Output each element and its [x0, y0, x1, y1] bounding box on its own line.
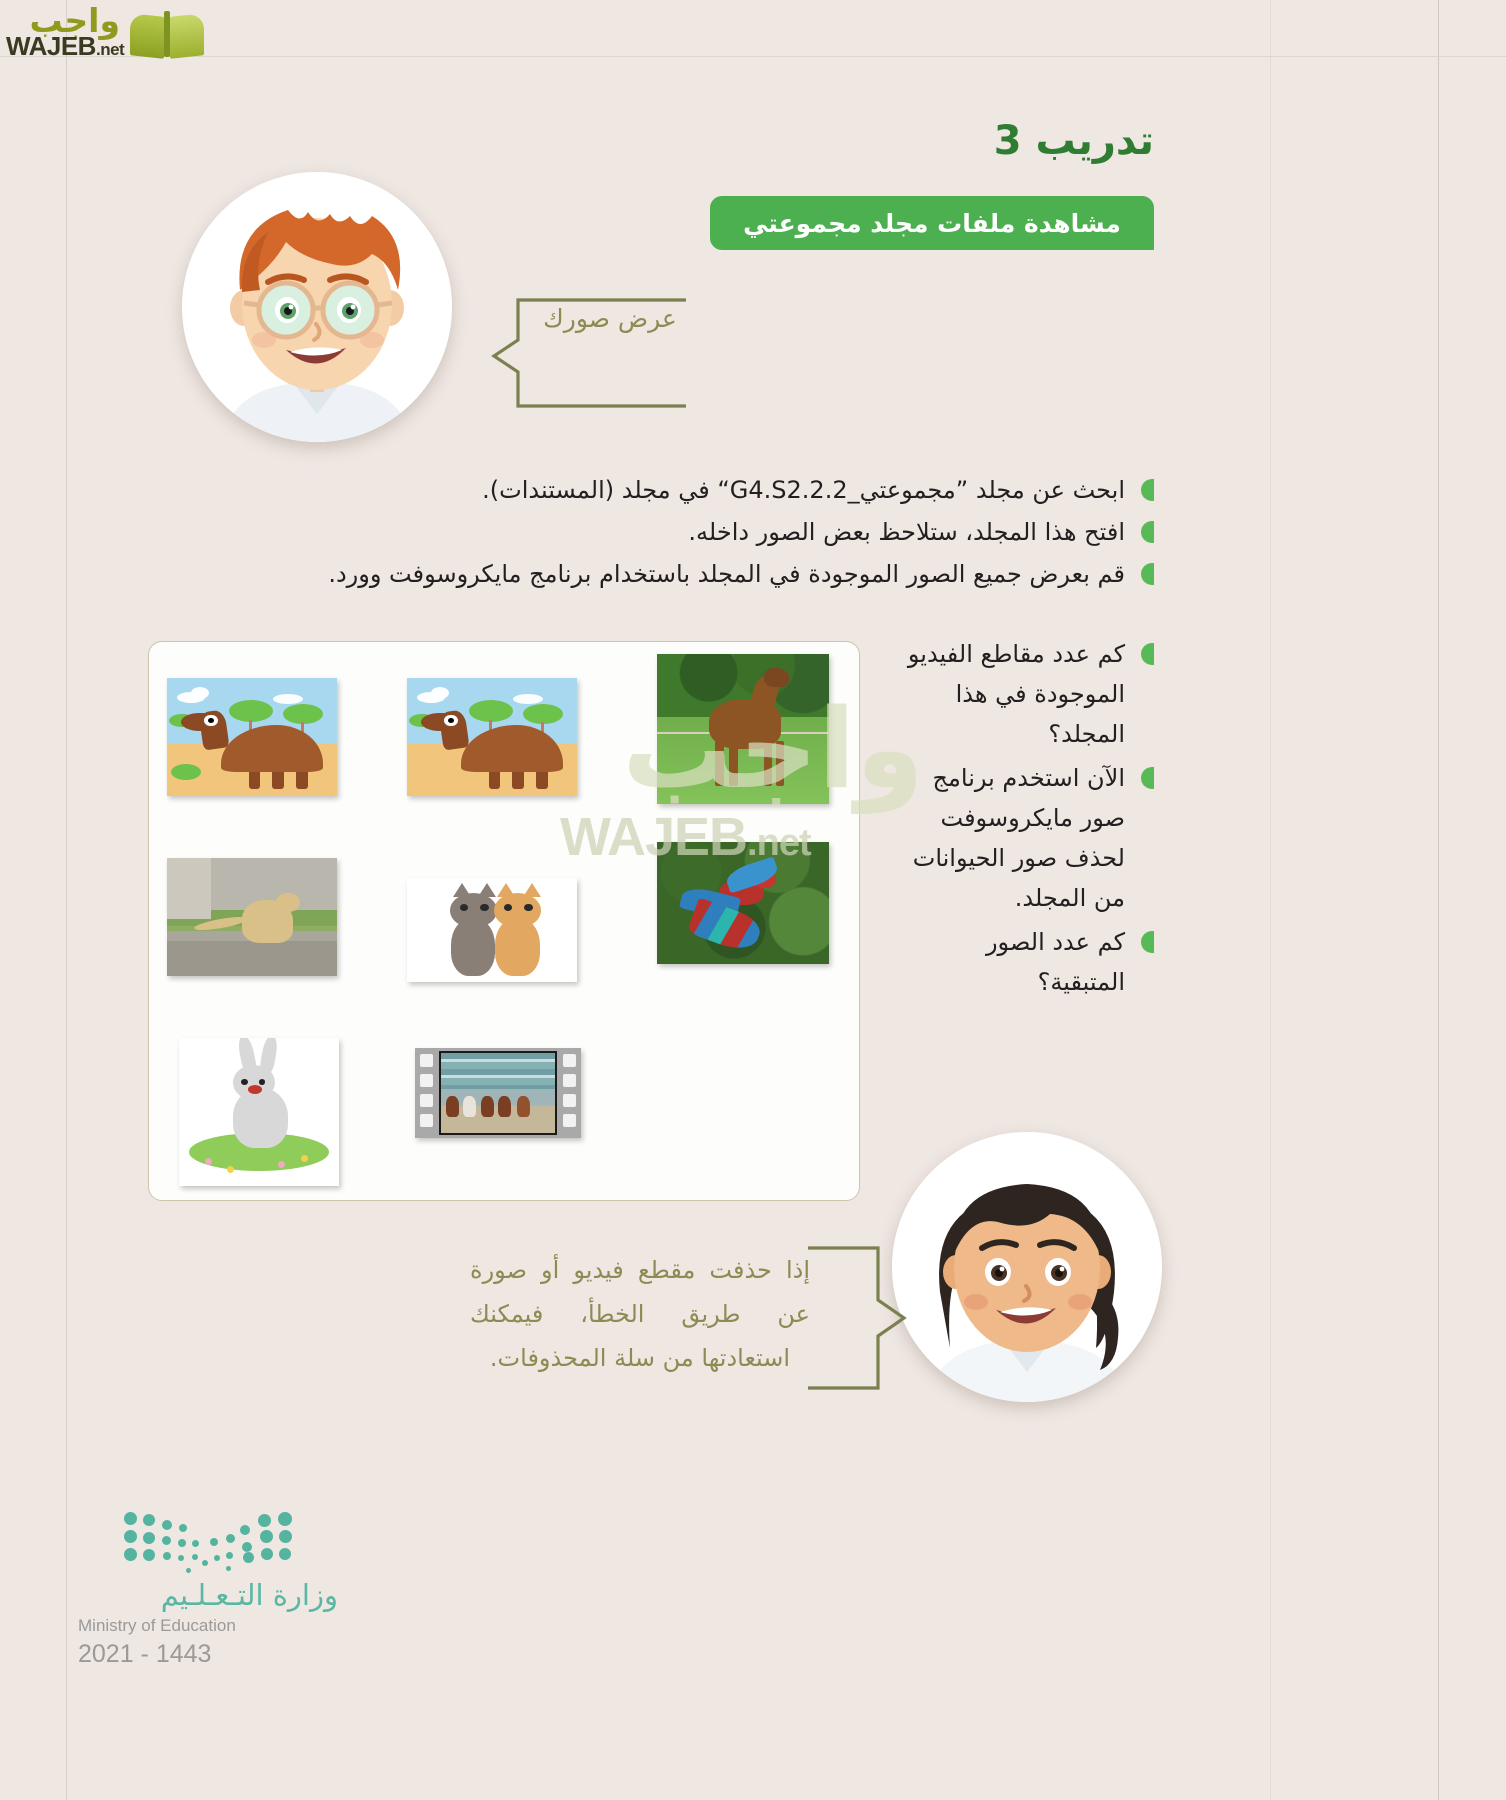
filmstrip-hole	[563, 1094, 576, 1107]
cloud-icon	[513, 694, 543, 704]
step-text: قم بعرض جميع الصور الموجودة في المجلد با…	[328, 554, 1125, 594]
tree-icon	[229, 700, 273, 722]
thumbnail-camel-illustration-1[interactable]	[167, 678, 337, 796]
ministry-year: 2021 - 1443	[78, 1640, 338, 1669]
bullet-marker-icon	[1141, 521, 1154, 543]
list-item: ابحث عن مجلد ”مجموعتي_G4.S2.2.2“ في مجلد…	[354, 470, 1154, 510]
cloud-icon	[431, 687, 449, 699]
questions-list: كم عدد مقاطع الفيديو الموجودة في هذا الم…	[894, 634, 1154, 1006]
cloud-icon	[273, 694, 303, 704]
kitten-grey-head	[450, 893, 498, 928]
speech-bubble-girl	[800, 1244, 930, 1392]
video-frame	[439, 1051, 557, 1135]
thumbnail-parrot-photo[interactable]	[657, 842, 829, 964]
tree-icon	[469, 700, 513, 722]
wajeb-site-logo: واجب WAJEB.net	[4, 4, 254, 62]
page-border-right	[1438, 0, 1439, 1800]
ministry-name-english: Ministry of Education	[78, 1616, 338, 1636]
bullet-marker-icon	[1141, 931, 1154, 953]
kitten-grey-ear	[453, 883, 471, 897]
thumbnail-camel-illustration-2[interactable]	[407, 678, 577, 796]
running-horse	[517, 1096, 530, 1116]
ministry-name-arabic: وزارة التـعـلـيم	[78, 1578, 338, 1612]
section-banner-label: مشاهدة ملفات مجلد مجموعتي	[743, 209, 1121, 238]
step-text: ابحث عن مجلد ”مجموعتي_G4.S2.2.2“ في مجلد…	[482, 470, 1125, 510]
running-horse	[498, 1096, 511, 1116]
thumbnail-rabbit-clipart[interactable]	[179, 1038, 339, 1186]
kitten-eye	[524, 904, 533, 911]
leopard-head	[276, 893, 300, 912]
sea-waves	[441, 1053, 555, 1093]
step-text: افتح هذا المجلد، ستلاحظ بعض الصور داخله.	[688, 512, 1125, 552]
filmstrip-hole	[563, 1074, 576, 1087]
tree-icon	[283, 704, 323, 724]
list-item: افتح هذا المجلد، ستلاحظ بعض الصور داخله.	[354, 512, 1154, 552]
bullet-marker-icon	[1141, 643, 1154, 665]
book-right-page	[170, 13, 204, 59]
page-border-left	[66, 0, 67, 1800]
list-item: قم بعرض جميع الصور الموجودة في المجلد با…	[354, 554, 1154, 594]
wajeb-logo-text: واجب WAJEB.net	[4, 5, 124, 61]
list-item: الآن استخدم برنامج صور مايكروسوفت لحذف ص…	[894, 758, 1154, 918]
avatar-girl	[892, 1132, 1162, 1402]
filmstrip-hole	[563, 1114, 576, 1127]
book-spine	[164, 11, 170, 57]
thumbnail-horses-beach-video[interactable]	[415, 1048, 581, 1138]
steps-list: ابحث عن مجلد ”مجموعتي_G4.S2.2.2“ في مجلد…	[354, 470, 1154, 596]
speech-bubble-girl-text: إذا حذفت مقطع فيديو أو صورة عن طريق الخط…	[470, 1248, 810, 1380]
bullet-marker-icon	[1141, 563, 1154, 585]
filmstrip-hole	[420, 1114, 433, 1127]
list-item: كم عدد الصور المتبقية؟	[894, 922, 1154, 1002]
kitten-eye	[480, 904, 489, 911]
ministry-of-education-logo: وزارة التـعـلـيم Ministry of Education 2…	[78, 1508, 338, 1668]
filmstrip-hole	[563, 1054, 576, 1067]
bullet-marker-icon	[1141, 479, 1154, 501]
rabbit-head	[233, 1065, 275, 1101]
question-text: الآن استخدم برنامج صور مايكروسوفت لحذف ص…	[894, 758, 1125, 918]
flower-icon	[205, 1158, 212, 1165]
thumbnail-leopard-photo[interactable]	[167, 858, 337, 976]
wall-pillar	[167, 858, 211, 919]
bullet-marker-icon	[1141, 767, 1154, 789]
running-horse	[463, 1096, 476, 1116]
flower-icon	[227, 1166, 234, 1173]
flower-icon	[301, 1155, 308, 1162]
book-left-page	[130, 13, 164, 59]
question-text: كم عدد مقاطع الفيديو الموجودة في هذا الم…	[894, 634, 1125, 754]
avatar-girl-illustration	[892, 1132, 1162, 1402]
cloud-icon	[191, 687, 209, 699]
avatar-boy-illustration	[182, 172, 452, 442]
horse-leg	[776, 741, 785, 786]
gallery-panel	[148, 641, 860, 1201]
kitten-orange-head	[494, 893, 542, 928]
horse-head	[764, 668, 790, 688]
thumbnail-kittens-photo[interactable]	[407, 878, 577, 982]
filmstrip-hole	[420, 1054, 433, 1067]
speech-bubble-boy-text: عرض صورك	[540, 300, 680, 338]
section-banner: مشاهدة ملفات مجلد مجموعتي	[710, 196, 1154, 250]
avatar-boy	[182, 172, 452, 442]
kitten-orange-ear	[523, 883, 541, 897]
list-item: كم عدد مقاطع الفيديو الموجودة في هذا الم…	[894, 634, 1154, 754]
tree-icon	[523, 704, 563, 724]
open-book-icon	[128, 7, 206, 59]
ground	[167, 941, 337, 976]
page-title: تدريب 3	[994, 118, 1154, 164]
page-border-inner	[1270, 0, 1271, 1800]
running-horse	[481, 1096, 494, 1116]
horse-leg	[715, 741, 724, 786]
wajeb-latin-label: WAJEB.net	[6, 33, 124, 63]
question-text: كم عدد الصور المتبقية؟	[894, 922, 1125, 1002]
kitten-orange-ear	[497, 883, 515, 897]
running-horse	[446, 1096, 459, 1116]
thumbnail-horse-photo[interactable]	[657, 654, 829, 804]
kitten-grey-ear	[478, 883, 496, 897]
bush-icon	[171, 764, 201, 780]
filmstrip-hole	[420, 1074, 433, 1087]
filmstrip-hole	[420, 1094, 433, 1107]
ministry-logo-dot-pattern	[122, 1508, 292, 1568]
